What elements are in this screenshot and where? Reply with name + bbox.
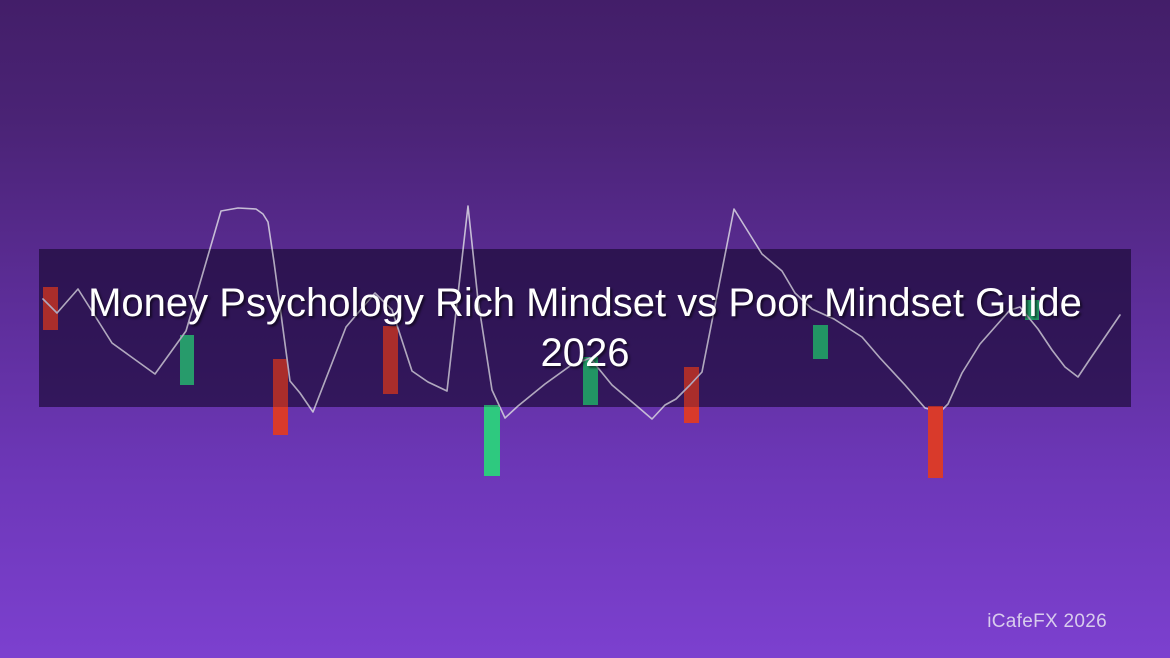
candle-up-4-lower [484, 407, 500, 476]
candle-down-8-lower [928, 407, 943, 478]
poster-title: Money Psychology Rich Mindset vs Poor Mi… [39, 249, 1131, 407]
poster-canvas: Money Psychology Rich Mindset vs Poor Mi… [0, 0, 1170, 658]
candle-down-6-lower [684, 407, 699, 423]
title-line-2: 2026 [541, 328, 630, 378]
candle-lower-segments [273, 407, 943, 478]
title-line-1: Money Psychology Rich Mindset vs Poor Mi… [88, 278, 1082, 328]
candle-down-2-lower [273, 407, 288, 435]
watermark-label: iCafeFX 2026 [987, 611, 1107, 633]
